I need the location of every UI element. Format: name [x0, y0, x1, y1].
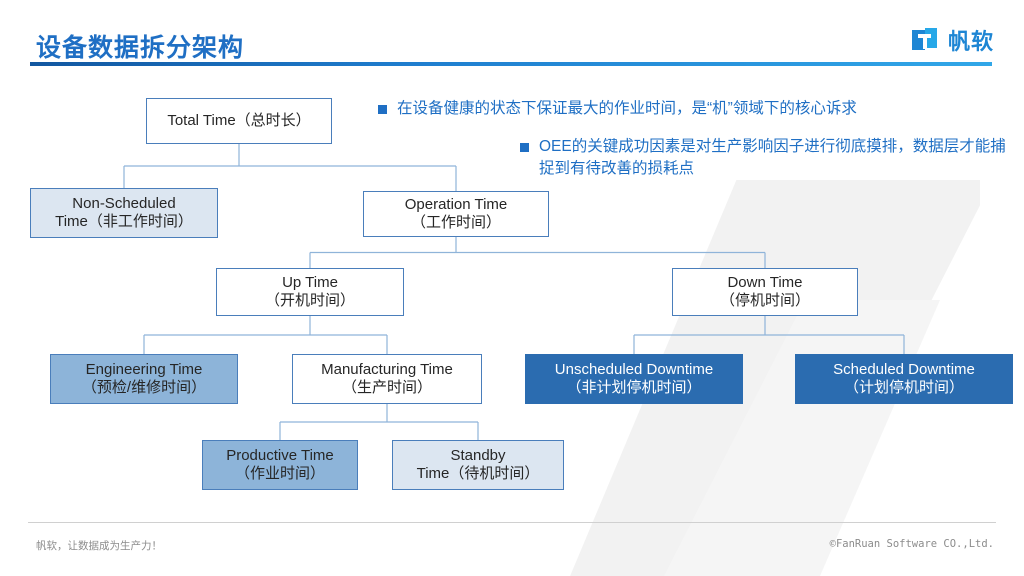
node-label-line1: Manufacturing Time — [321, 361, 453, 379]
node-label-line1: Non-Scheduled — [55, 195, 193, 213]
node-label-line2: （生产时间） — [321, 379, 453, 397]
node-label-line1: Unscheduled Downtime — [555, 361, 713, 379]
bullet-item-1: 在设备健康的状态下保证最大的作业时间，是“机”领域下的核心诉求 — [378, 98, 1008, 120]
node-label-line2: （工作时间） — [405, 214, 508, 232]
slide-canvas: 设备数据拆分架构 帆软 在设备健康的状态下保证最大的作业时间，是“机”领域下的核… — [0, 0, 1024, 576]
node-downtime: Down Time（停机时间） — [672, 268, 858, 316]
node-label-line2: Time（非工作时间） — [55, 213, 193, 231]
page-title: 设备数据拆分架构 — [36, 28, 244, 64]
node-label-line1: Up Time — [265, 274, 355, 292]
node-nonsched: Non-ScheduledTime（非工作时间） — [30, 188, 218, 238]
node-label-line1: Productive Time — [226, 447, 334, 465]
node-label-line1: Total Time（总时长） — [167, 112, 310, 130]
node-operation: Operation Time（工作时间） — [363, 191, 549, 237]
node-label-line2: （非计划停机时间） — [555, 379, 713, 397]
bullet-text-1: 在设备健康的状态下保证最大的作业时间，是“机”领域下的核心诉求 — [397, 98, 857, 120]
footer-tagline: 帆软，让数据成为生产力！ — [36, 538, 162, 553]
bullet-item-2: OEE的关键成功因素是对生产影响因子进行彻底摸排，数据层才能捕捉到有待改善的损耗… — [520, 136, 1010, 181]
node-label-line1: Down Time — [720, 274, 810, 292]
fanruan-logo-icon — [910, 25, 940, 55]
square-bullet-icon — [520, 143, 529, 152]
node-engineering: Engineering Time（预检/维修时间） — [50, 354, 238, 404]
node-label-line2: （预检/维修时间） — [82, 379, 206, 397]
node-label-line2: （作业时间） — [226, 465, 334, 483]
title-underline-rule — [30, 62, 992, 66]
bullet-text-2: OEE的关键成功因素是对生产影响因子进行彻底摸排，数据层才能捕捉到有待改善的损耗… — [539, 136, 1010, 181]
node-standby: StandbyTime（待机时间） — [392, 440, 564, 490]
node-label-line2: （停机时间） — [720, 292, 810, 310]
node-label-line2: Time（待机时间） — [417, 465, 540, 483]
node-productive: Productive Time（作业时间） — [202, 440, 358, 490]
node-label-line2: （计划停机时间） — [833, 379, 975, 397]
node-sched-down: Scheduled Downtime（计划停机时间） — [795, 354, 1013, 404]
brand-logo-text: 帆软 — [948, 24, 994, 56]
footer-copyright: ©FanRuan Software CO.,Ltd. — [830, 538, 994, 550]
footer-divider — [28, 522, 996, 523]
square-bullet-icon — [378, 105, 387, 114]
node-label-line1: Standby — [417, 447, 540, 465]
node-label-line1: Scheduled Downtime — [833, 361, 975, 379]
node-label-line1: Engineering Time — [82, 361, 206, 379]
node-unsched-down: Unscheduled Downtime（非计划停机时间） — [525, 354, 743, 404]
node-manufacturing: Manufacturing Time（生产时间） — [292, 354, 482, 404]
node-label-line1: Operation Time — [405, 196, 508, 214]
node-label-line2: （开机时间） — [265, 292, 355, 310]
node-uptime: Up Time（开机时间） — [216, 268, 404, 316]
brand-logo: 帆软 — [910, 24, 994, 56]
node-total: Total Time（总时长） — [146, 98, 332, 144]
